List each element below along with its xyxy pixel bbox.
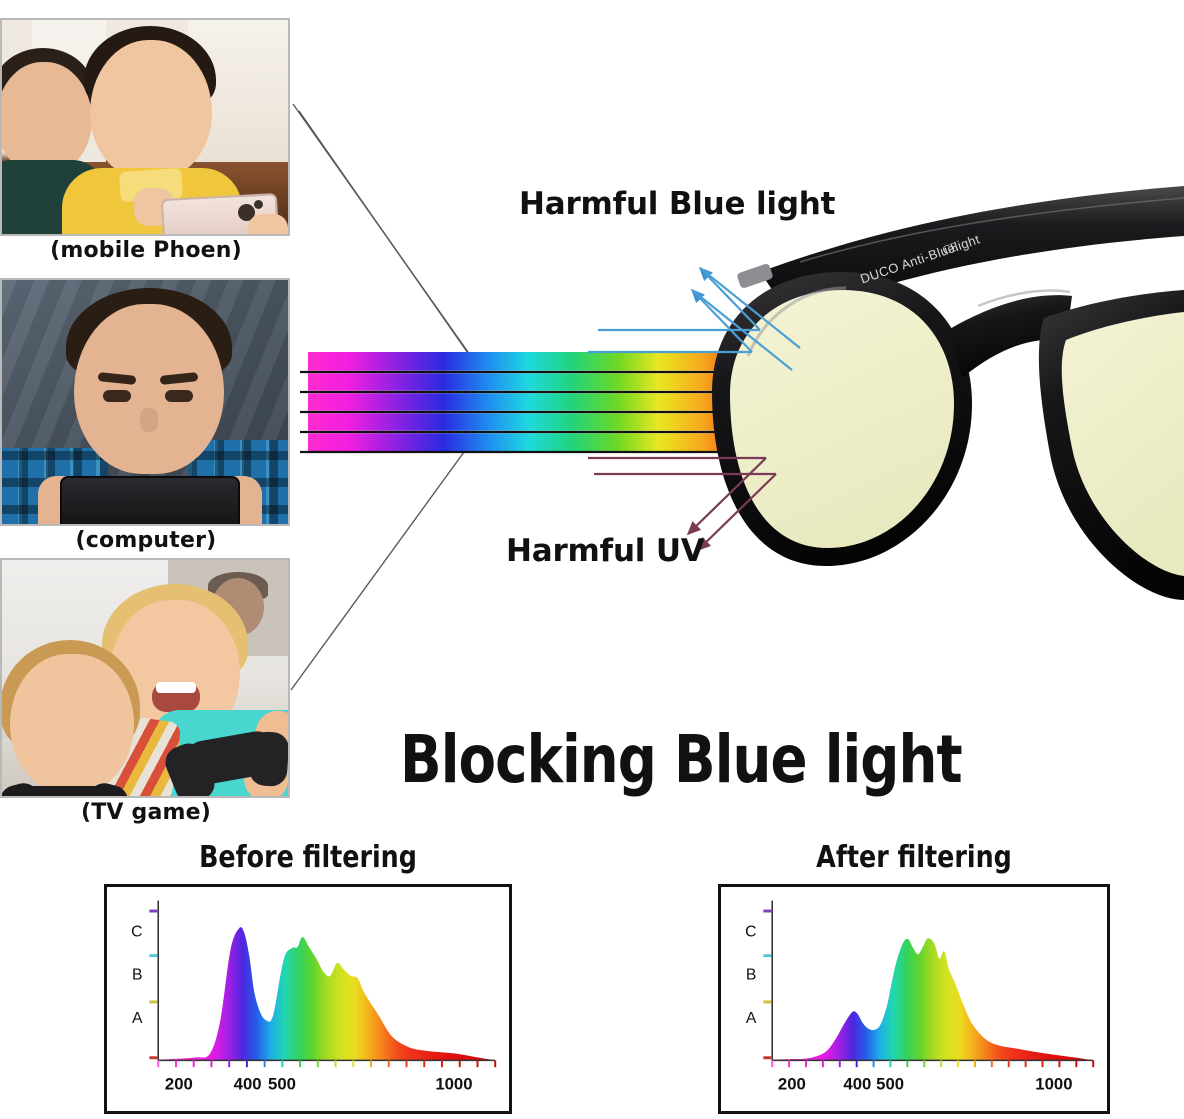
y-tick-label: C bbox=[131, 923, 142, 940]
harmful-uv-label: Harmful UV bbox=[506, 533, 705, 569]
x-tick-label: 500 bbox=[268, 1075, 296, 1094]
spectrum-area bbox=[772, 938, 1093, 1060]
photo-card-computer: (computer) bbox=[0, 278, 292, 553]
photo-mobile-phone bbox=[0, 18, 290, 236]
light-ray-arrows bbox=[300, 372, 810, 452]
harmful-blue-light-label: Harmful Blue light bbox=[519, 186, 835, 222]
x-tick-label: 400 bbox=[234, 1075, 262, 1094]
photo-tv-game bbox=[0, 558, 290, 798]
connector-lines bbox=[291, 104, 470, 690]
y-tick-label: A bbox=[132, 1010, 143, 1027]
x-tick-label: 400 bbox=[843, 1075, 871, 1094]
photo-card-mobile-phone: (mobile Phoen) bbox=[0, 18, 292, 263]
photo-card-tv-game: (TV game) bbox=[0, 558, 292, 825]
x-tick-label: 1000 bbox=[1035, 1075, 1072, 1094]
photo-caption-computer: (computer) bbox=[0, 526, 292, 553]
chart-box-after: 2004005001000ABC bbox=[718, 884, 1110, 1114]
x-tick-label: 200 bbox=[165, 1075, 193, 1094]
photo-computer bbox=[0, 278, 290, 526]
chart-title-after: After filtering bbox=[730, 840, 1098, 875]
y-tick-label: C bbox=[745, 923, 756, 940]
y-tick-label: B bbox=[132, 967, 143, 984]
x-tick-label: 200 bbox=[778, 1075, 806, 1094]
blue-light-glasses: DUCO Anti-Bluelight CE bbox=[712, 186, 1184, 600]
chart-box-before: 2004005001000ABC bbox=[104, 884, 512, 1114]
x-tick-label: 500 bbox=[876, 1075, 904, 1094]
page-title: Blocking Blue light bbox=[400, 721, 962, 798]
glasses-brand-text: DUCO Anti-Bluelight bbox=[858, 231, 981, 286]
photo-caption-tv-game: (TV game) bbox=[0, 798, 292, 825]
y-tick-label: B bbox=[746, 967, 757, 984]
glasses-ce-mark: CE bbox=[941, 239, 960, 257]
spectrum-chart-before: 2004005001000ABC bbox=[107, 887, 509, 1111]
spectrum-area bbox=[158, 927, 495, 1060]
infographic-stage: (mobile Phoen) (computer) bbox=[0, 0, 1184, 1119]
y-tick-label: A bbox=[746, 1010, 757, 1027]
spectrum-chart-after: 2004005001000ABC bbox=[721, 887, 1107, 1111]
x-tick-label: 1000 bbox=[435, 1075, 472, 1094]
chart-title-before: Before filtering bbox=[116, 840, 500, 875]
blue-light-rays bbox=[588, 268, 800, 370]
photo-caption-mobile-phone: (mobile Phoen) bbox=[0, 236, 292, 263]
spectrum-beam bbox=[308, 352, 820, 452]
